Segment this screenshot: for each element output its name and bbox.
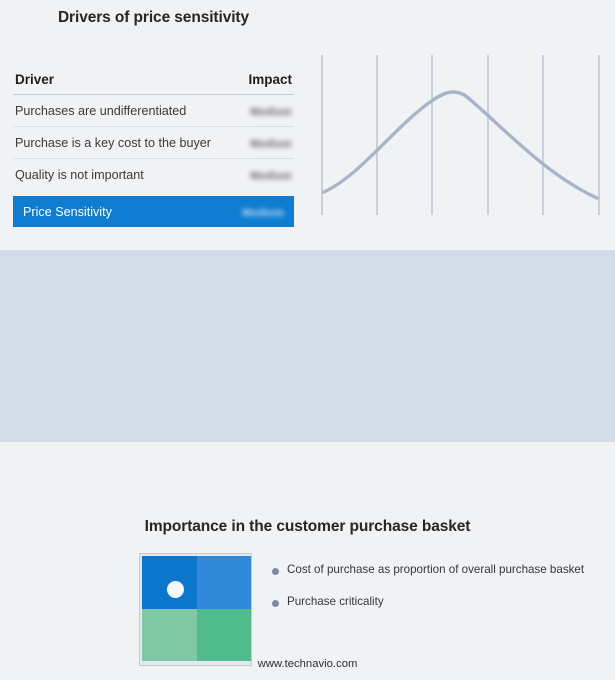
- driver-name: Purchase is a key cost to the buyer: [15, 136, 211, 150]
- basket-panel: Importance in the customer purchase bask…: [0, 250, 615, 442]
- table-header-row: Driver Impact: [13, 65, 294, 95]
- driver-name: Purchases are undifferentiated: [15, 104, 186, 118]
- impact-value: Medium: [228, 136, 292, 150]
- footer-url: www.technavio.com: [0, 658, 615, 670]
- table-row[interactable]: Purchase is a key cost to the buyer Medi…: [13, 127, 294, 159]
- lifecycle-dividers: [322, 55, 599, 215]
- impact-value: Medium: [228, 168, 292, 182]
- table-row[interactable]: Quality is not important Medium: [13, 159, 294, 191]
- key-purchase-criteria-panel: Key purchase criteria InnovationPriceQua…: [307, 442, 615, 680]
- column-header-driver: Driver: [15, 72, 54, 87]
- driver-name: Quality is not important: [15, 168, 144, 182]
- adoption-rates-panel: Adoption rates ChinaIndiaThailandUS: [0, 442, 307, 680]
- bell-curve: [324, 92, 597, 198]
- table-row[interactable]: Purchases are undifferentiated Medium: [13, 95, 294, 127]
- lifecycle-panel: Adoption lifecycle Innovators EarlyAdopt…: [307, 0, 615, 250]
- lifecycle-chart: [321, 55, 601, 215]
- impact-value: Medium: [228, 104, 292, 118]
- column-header-impact: Impact: [228, 72, 292, 87]
- drivers-title: Drivers of price sensitivity: [0, 9, 307, 27]
- drivers-table: Driver Impact Purchases are undifferenti…: [13, 65, 294, 227]
- table-row-highlighted[interactable]: Price Sensitivity Medium: [13, 196, 294, 227]
- drivers-panel: Drivers of price sensitivity Driver Impa…: [0, 0, 307, 250]
- driver-name-highlighted: Price Sensitivity: [23, 205, 112, 219]
- infographic-page: Drivers of price sensitivity Driver Impa…: [0, 0, 615, 680]
- impact-value-highlighted: Medium: [220, 205, 284, 219]
